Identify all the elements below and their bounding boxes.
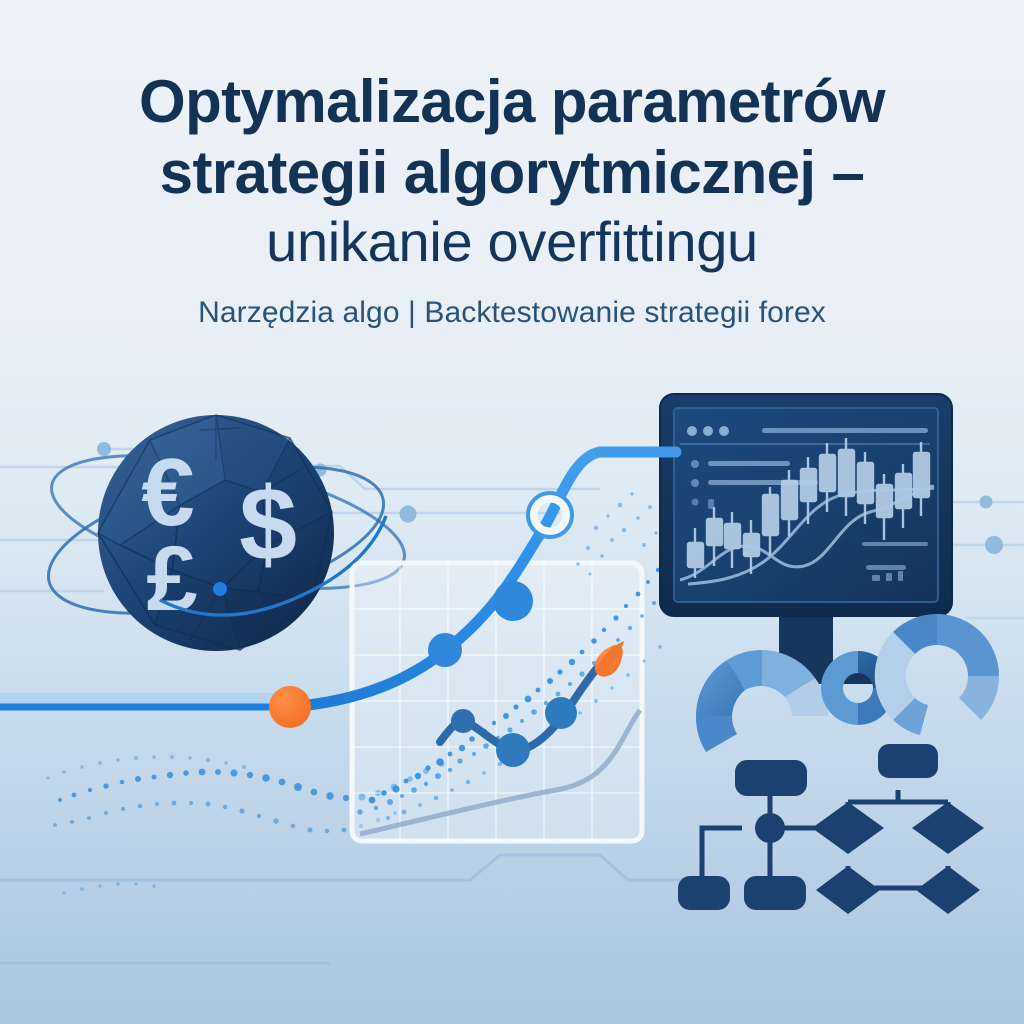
window-titlebar-line bbox=[762, 428, 928, 433]
zigzag-node bbox=[451, 709, 475, 733]
strategy-flowchart bbox=[678, 744, 984, 914]
dollar-symbol: $ bbox=[239, 467, 297, 583]
flowchart-connectors bbox=[702, 790, 948, 888]
trend-start-orange-dot bbox=[269, 686, 311, 728]
page-title-line-1: Optymalizacja parametrów bbox=[0, 72, 1024, 132]
donut-right bbox=[875, 614, 999, 735]
page-subtitle: Narzędzia algo | Backtestowanie strategi… bbox=[0, 296, 1024, 330]
zigzag-node bbox=[545, 697, 577, 729]
flowchart-diamonds bbox=[812, 802, 984, 914]
flowchart-connector-dot bbox=[755, 813, 785, 843]
monitor-stand-neck bbox=[779, 616, 833, 662]
orbit-node bbox=[213, 582, 227, 596]
page-title-line-2: strategii algorytmicznej – bbox=[0, 143, 1024, 203]
page-title-line-3: unikanie overfittingu bbox=[0, 214, 1024, 270]
trend-node bbox=[428, 633, 462, 667]
poster-canvas: € $ £ bbox=[0, 0, 1024, 1024]
pound-symbol: £ bbox=[146, 528, 197, 630]
zigzag-node bbox=[496, 733, 530, 767]
trend-node bbox=[493, 581, 533, 621]
poster-header: Optymalizacja parametrów strategii algor… bbox=[0, 72, 1024, 330]
window-dots bbox=[687, 426, 729, 436]
